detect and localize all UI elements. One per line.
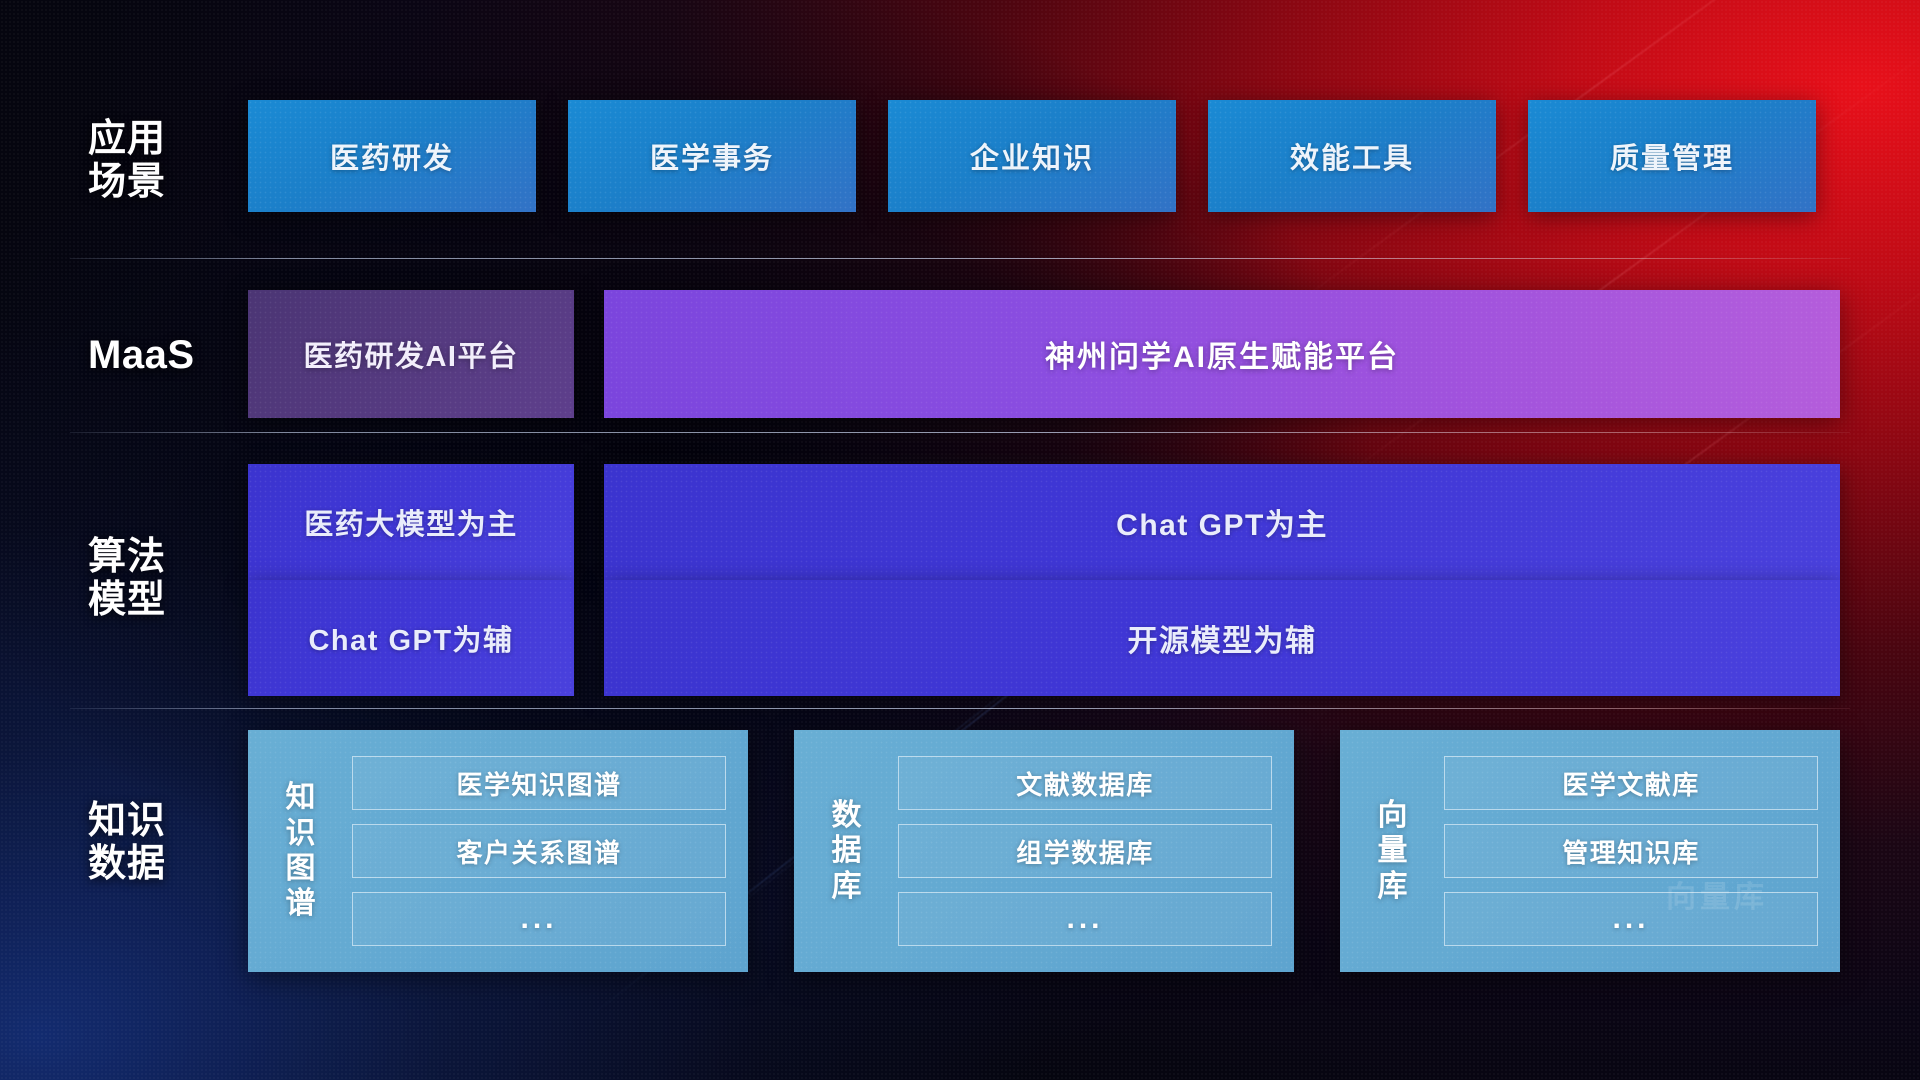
row-label-maas: MaaS <box>88 333 218 378</box>
app-box-label: 医药研发 <box>330 135 454 177</box>
app-box-label: 质量管理 <box>1610 135 1734 177</box>
knowledge-panel-item-list: 文献数据库 组学数据库 ... <box>886 730 1294 972</box>
divider-algorithm-knowledge <box>70 708 1850 709</box>
algorithm-box-label: 医药大模型为主 <box>304 501 518 543</box>
knowledge-item-medical-graph[interactable]: 医学知识图谱 <box>352 756 726 810</box>
knowledge-panel-item-list: 医学知识图谱 客户关系图谱 ... <box>340 730 748 972</box>
divider-application-maas <box>70 258 1850 259</box>
knowledge-item-medical-literature[interactable]: 医学文献库 <box>1444 756 1818 810</box>
algorithm-box-label: Chat GPT为主 <box>1116 500 1328 544</box>
app-box-label: 企业知识 <box>970 135 1094 177</box>
row-label-algorithm: 算法 模型 <box>88 536 218 621</box>
maas-box-pharma-ai-platform[interactable]: 医药研发AI平台 <box>248 290 574 418</box>
algorithm-box-chatgpt-secondary[interactable]: Chat GPT为辅 <box>248 580 574 696</box>
algorithm-box-opensource-secondary[interactable]: 开源模型为辅 <box>604 580 1840 696</box>
app-box-pharma-rd[interactable]: 医药研发 <box>248 100 536 212</box>
knowledge-panel-knowledge-graph[interactable]: 知识图谱 医学知识图谱 客户关系图谱 ... <box>248 730 748 972</box>
knowledge-item-more[interactable]: ... <box>898 892 1272 946</box>
app-box-label: 效能工具 <box>1290 135 1414 177</box>
app-box-quality-management[interactable]: 质量管理 <box>1528 100 1816 212</box>
knowledge-item-customer-graph[interactable]: 客户关系图谱 <box>352 824 726 878</box>
algorithm-box-pharma-llm-primary[interactable]: 医药大模型为主 <box>248 464 574 580</box>
knowledge-item-more[interactable]: ... <box>352 892 726 946</box>
app-box-enterprise-knowledge[interactable]: 企业知识 <box>888 100 1176 212</box>
algorithm-box-label: Chat GPT为辅 <box>308 617 513 659</box>
maas-left-label: 医药研发AI平台 <box>303 333 518 375</box>
knowledge-panel-database[interactable]: 数据库 文献数据库 组学数据库 ... <box>794 730 1294 972</box>
app-box-medical-affairs[interactable]: 医学事务 <box>568 100 856 212</box>
app-box-label: 医学事务 <box>650 135 774 177</box>
knowledge-item-management-knowledge[interactable]: 管理知识库 <box>1444 824 1818 878</box>
row-label-knowledge: 知识 数据 <box>88 800 218 885</box>
knowledge-item-omics-db[interactable]: 组学数据库 <box>898 824 1272 878</box>
diagram-canvas: 应用 场景 医药研发 医学事务 企业知识 效能工具 质量管理 MaaS 医药研发… <box>0 0 1920 1080</box>
watermark-text: 向量库 <box>1666 872 1768 916</box>
algorithm-box-label: 开源模型为辅 <box>1128 616 1317 660</box>
knowledge-item-literature-db[interactable]: 文献数据库 <box>898 756 1272 810</box>
algorithm-box-chatgpt-primary[interactable]: Chat GPT为主 <box>604 464 1840 580</box>
knowledge-panel-vertical-label: 数据库 <box>794 730 886 972</box>
app-box-efficiency-tools[interactable]: 效能工具 <box>1208 100 1496 212</box>
diagram-content: 应用 场景 医药研发 医学事务 企业知识 效能工具 质量管理 MaaS 医药研发… <box>0 0 1920 1080</box>
knowledge-panel-item-list: 医学文献库 管理知识库 ... <box>1432 730 1840 972</box>
maas-box-shenzhou-wenxue-platform[interactable]: 神州问学AI原生赋能平台 <box>604 290 1840 418</box>
knowledge-panel-vertical-label: 知识图谱 <box>248 730 340 972</box>
row-label-application: 应用 场景 <box>88 118 218 203</box>
maas-right-label: 神州问学AI原生赋能平台 <box>1045 332 1399 376</box>
application-box-track: 医药研发 医学事务 企业知识 效能工具 质量管理 <box>248 100 1816 212</box>
knowledge-panel-vertical-label: 向量库 <box>1340 730 1432 972</box>
divider-maas-algorithm <box>70 432 1850 433</box>
knowledge-panel-vector-store[interactable]: 向量库 医学文献库 管理知识库 ... 向量库 <box>1340 730 1840 972</box>
